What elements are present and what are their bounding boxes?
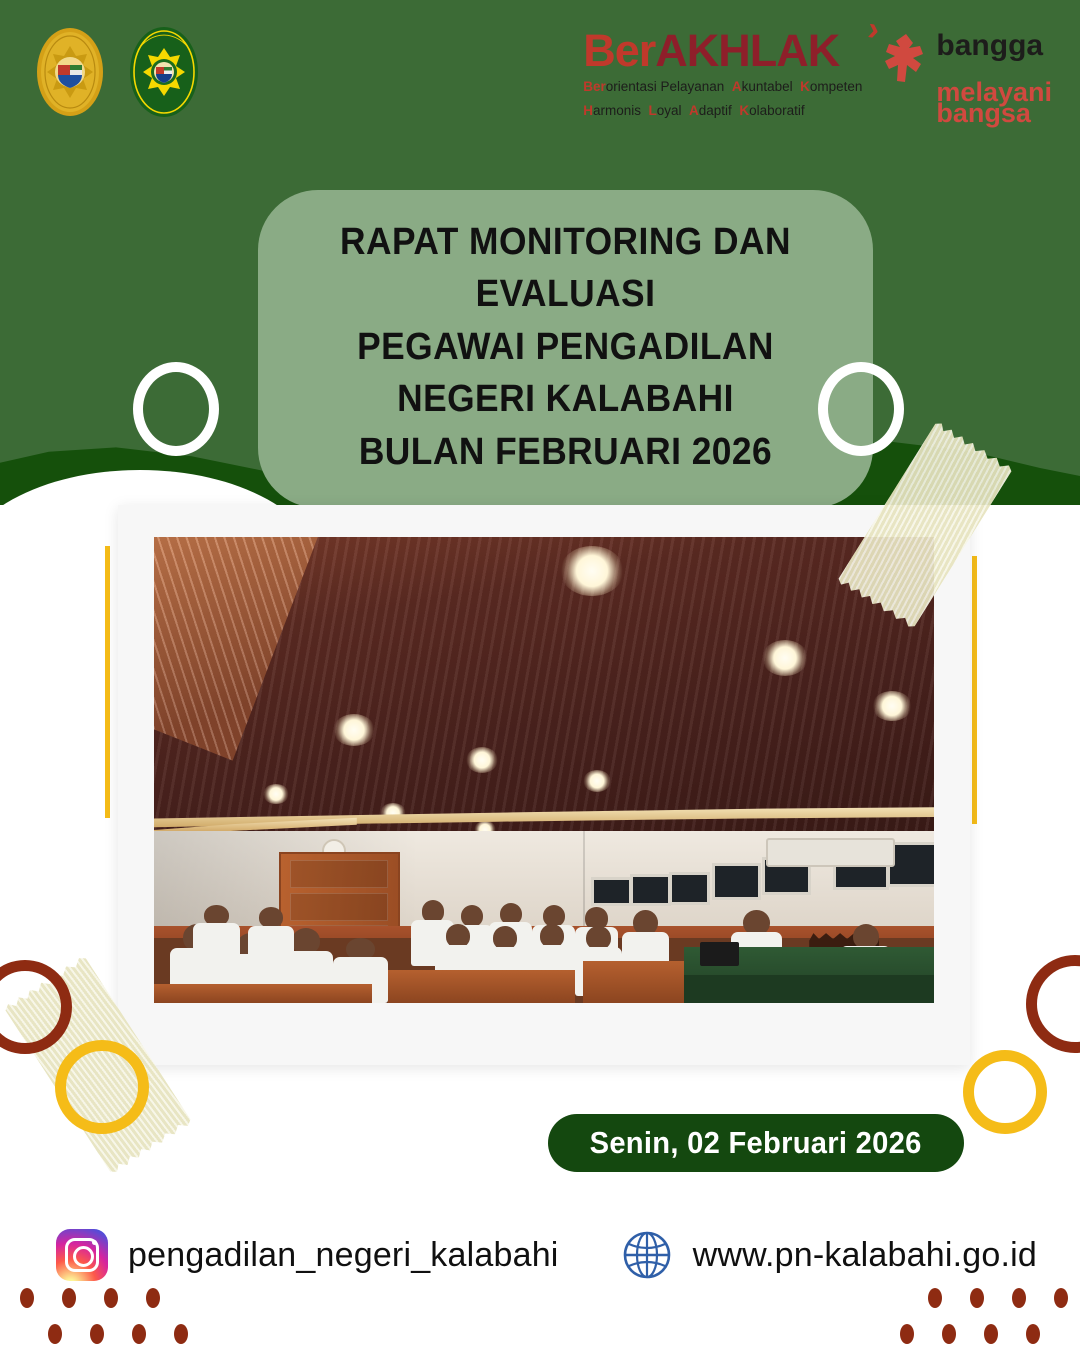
decor-dot <box>1026 1324 1040 1344</box>
photo-green-table-front <box>684 975 934 1003</box>
decor-ring-gold-right <box>963 1050 1047 1134</box>
bangga-figure-icon <box>884 32 930 84</box>
decor-gold-rule-right <box>972 556 977 824</box>
footer-instagram[interactable]: pengadilan_negeri_kalabahi <box>56 1229 559 1281</box>
bangga-melayani-bangsa-logo: bangga melayani bangsa <box>884 28 1052 126</box>
berakhlak-word-part1: Ber <box>583 25 655 76</box>
berakhlak-tagline-line2: Harmonis Loyal Adaptif Kolaboratif <box>583 101 862 121</box>
decor-dot <box>900 1324 914 1344</box>
decor-ring-white-right <box>818 362 904 456</box>
event-photo <box>154 537 934 1003</box>
berakhlak-tagline-line1: Berorientasi Pelayanan Akuntabel Kompete… <box>583 77 862 97</box>
institution-logos <box>30 22 204 122</box>
berakhlak-word-part2: AKHLAK <box>655 25 839 76</box>
photo-window <box>630 874 671 905</box>
decor-dot <box>48 1324 62 1344</box>
decor-dot <box>942 1324 956 1344</box>
photo-lamp <box>872 691 912 721</box>
date-badge: Senin, 02 Februari 2026 <box>548 1114 964 1172</box>
mahkamah-agung-crest <box>30 22 110 122</box>
title-banner: RAPAT MONITORING DAN EVALUASI PEGAWAI PE… <box>258 190 873 508</box>
berakhlak-wordmark: BerAKHLAK › <box>583 28 862 73</box>
decor-ring-white-left <box>133 362 219 456</box>
photo-lamp <box>263 784 289 804</box>
photo-laptop <box>700 942 739 965</box>
decor-dot <box>20 1288 34 1308</box>
photo-door-panel <box>290 893 388 922</box>
date-badge-label: Senin, 02 Februari 2026 <box>590 1125 922 1161</box>
title-line-1: RAPAT MONITORING DAN EVALUASI <box>298 216 833 321</box>
decor-dot <box>90 1324 104 1344</box>
decor-dot <box>146 1288 160 1308</box>
photo-air-conditioner <box>766 838 895 868</box>
decor-dot <box>1054 1288 1068 1308</box>
decor-dot <box>62 1288 76 1308</box>
decor-dot <box>104 1288 118 1308</box>
photo-pew <box>154 984 372 1003</box>
decor-dot <box>1012 1288 1026 1308</box>
photo-lamp <box>560 546 624 596</box>
globe-icon <box>621 1229 673 1281</box>
poster-canvas: BerAKHLAK › Berorientasi Pelayanan Akunt… <box>0 0 1080 1350</box>
photo-door-panel <box>290 860 388 889</box>
pengadilan-negeri-kalabahi-crest <box>124 22 204 122</box>
photo-card <box>118 505 970 1065</box>
instagram-handle: pengadilan_negeri_kalabahi <box>128 1236 559 1275</box>
bangga-line3: bangsa <box>936 101 1031 126</box>
photo-lamp <box>762 640 808 676</box>
photo-lamp <box>583 770 611 792</box>
photo-window <box>669 872 710 905</box>
footer-website[interactable]: www.pn-kalabahi.go.id <box>621 1229 1037 1281</box>
decor-dot <box>970 1288 984 1308</box>
decor-dot <box>984 1324 998 1344</box>
title-line-2: PEGAWAI PENGADILAN NEGERI KALABAHI <box>298 321 833 426</box>
photo-person <box>193 905 240 966</box>
title-line-3: BULAN FEBRUARI 2026 <box>298 426 833 478</box>
instagram-icon <box>56 1229 108 1281</box>
website-url: www.pn-kalabahi.go.id <box>693 1236 1037 1275</box>
photo-lamp <box>466 747 498 773</box>
photo-window <box>591 877 632 906</box>
decor-dot <box>174 1324 188 1344</box>
berakhlak-logo: BerAKHLAK › Berorientasi Pelayanan Akunt… <box>583 28 1052 126</box>
photo-window <box>712 863 761 900</box>
bangga-line1: bangga <box>936 32 1043 60</box>
decor-ring-gold-left <box>55 1040 149 1134</box>
footer-contacts: pengadilan_negeri_kalabahi www.pn-kalaba… <box>0 1218 1080 1292</box>
decor-dot <box>132 1324 146 1344</box>
decor-gold-rule-left <box>105 546 110 818</box>
decor-dot <box>928 1288 942 1308</box>
photo-pew <box>388 970 575 1003</box>
photo-person <box>248 907 295 968</box>
